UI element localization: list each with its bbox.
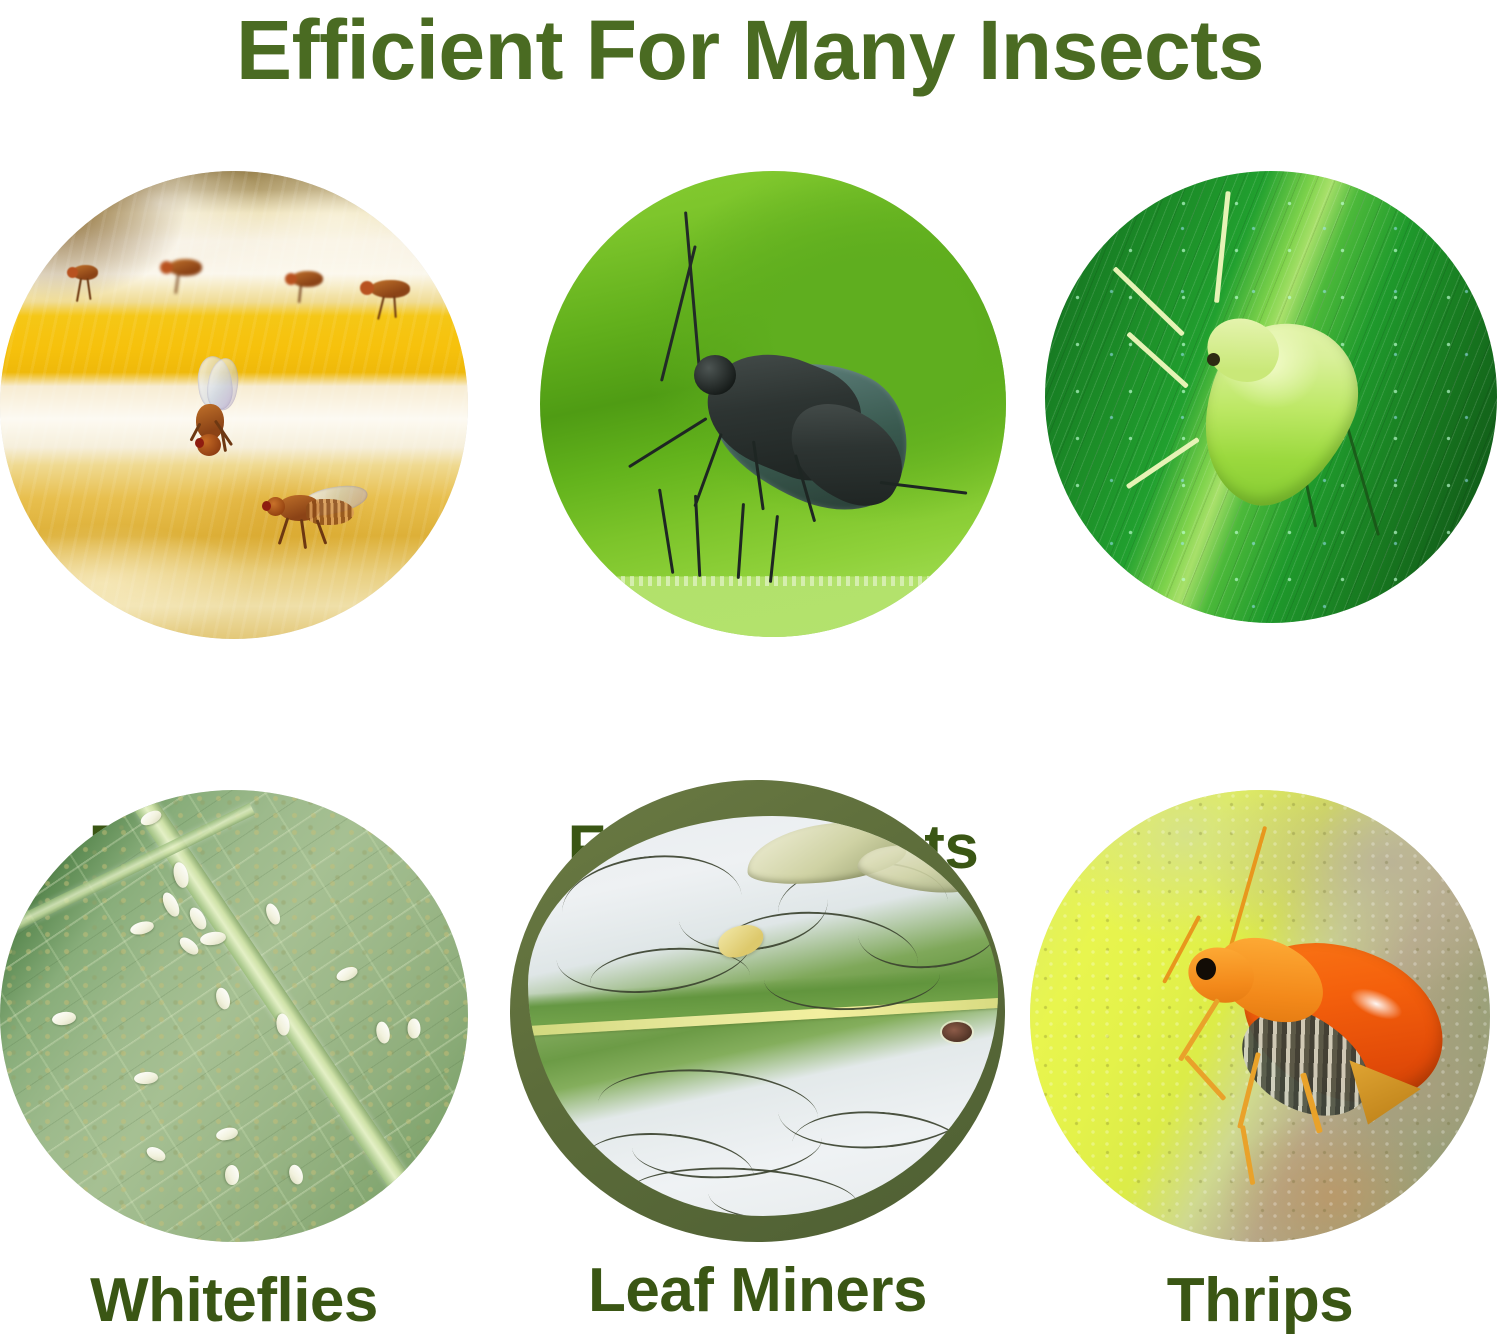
insect-card-fungus-gnats: Fungus Gnats (540, 171, 1010, 711)
beetle-eye (1196, 958, 1216, 980)
thrips-beetle (1090, 808, 1470, 1208)
insect-card-leaf-miners: Leaf Miners (510, 780, 1010, 1341)
insect-label-leaf-miners: Leaf Miners (510, 1260, 1005, 1322)
fungus-gnats-photo (540, 171, 1006, 637)
page-title: Efficient For Many Insects (0, 0, 1500, 102)
insect-card-whiteflies: Whiteflies (0, 790, 470, 1341)
gnat-antenna-1 (684, 211, 701, 371)
fruit-fly-small-4 (360, 275, 430, 309)
beetle-leg-front-b (1184, 1055, 1227, 1101)
gnat-leg-1b (658, 489, 674, 574)
leaf-miners-leaf (528, 816, 998, 1216)
insect-card-aphids: Aphids (1045, 171, 1500, 711)
fruit-fly-small-3 (285, 267, 337, 295)
insect-card-fruit-flies: Fruit Flies (0, 171, 470, 711)
gnat-leg-2 (693, 433, 722, 507)
fruit-fly-small-1 (66, 261, 112, 287)
gnat-leg-2b (694, 495, 701, 577)
leaf-miners-exit-hole (942, 1022, 972, 1042)
gnat-head (694, 355, 736, 395)
insect-card-thrips: Thrips (1030, 790, 1500, 1341)
fruit-flies-photo (0, 171, 468, 639)
gnat-antenna-2 (660, 245, 697, 382)
aphids-photo (1045, 171, 1497, 623)
leaf-miners-photo (510, 780, 1005, 1242)
beetle-leg-front (1178, 998, 1220, 1062)
fruit-fly-small-2 (160, 255, 218, 285)
whiteflies-photo (0, 790, 468, 1242)
fruit-fly-main (182, 356, 262, 472)
beetle-leg-mid-b (1240, 1125, 1255, 1185)
aphid-eye (1207, 353, 1220, 366)
gnat-leg-3b (737, 503, 745, 579)
insect-label-whiteflies: Whiteflies (0, 1270, 468, 1332)
gnat-leg-1 (628, 417, 708, 468)
fungus-gnat-insect (580, 189, 980, 619)
aphid-insect (1141, 267, 1431, 557)
insect-label-thrips: Thrips (1030, 1270, 1490, 1332)
gnat-leg-4b (769, 515, 779, 583)
thrips-photo (1030, 790, 1490, 1242)
aphid-body (1173, 300, 1380, 528)
fruit-fly-lower (258, 483, 378, 553)
